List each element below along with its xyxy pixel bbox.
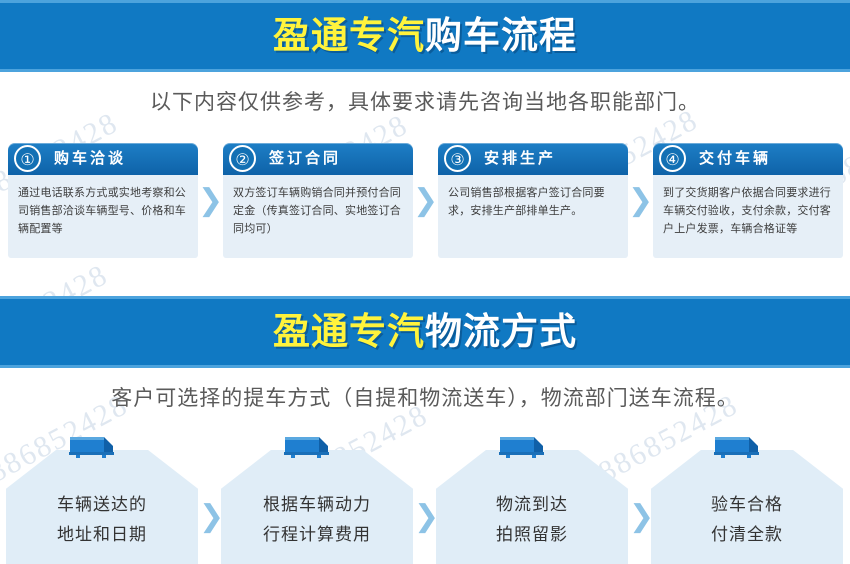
step-number-badge: ② <box>229 145 256 172</box>
purchase-step-header-3: ③ 安排生产 <box>438 143 628 175</box>
step-number-badge: ③ <box>444 145 471 172</box>
purchase-banner-title: 盈通专汽购车流程 <box>0 3 850 69</box>
purchase-step-title-4: 交付车辆 <box>699 143 839 175</box>
logistics-steps-row: 车辆送达的 地址和日期 ❯ 根据车辆动力 行程计算费用 ❯ <box>0 434 850 564</box>
chevron-right-icon: ❯ <box>198 186 218 216</box>
logistics-step-text-1: 车辆送达的 地址和日期 <box>6 490 198 550</box>
truck-icon <box>711 434 767 460</box>
logistics-step-line1: 车辆送达的 <box>6 490 198 520</box>
purchase-step-title-2: 签订合同 <box>269 143 409 175</box>
logistics-step-line2: 拍照留影 <box>436 520 628 550</box>
step-number-badge: ① <box>14 145 41 172</box>
purchase-step-header-2: ② 签订合同 <box>223 143 413 175</box>
purchase-step-body-4: 到了交货期客户依据合同要求进行车辆交付验收，支付余款，交付客户上户发票，车辆合格… <box>653 175 843 258</box>
purchase-step-title-1: 购车洽谈 <box>54 143 194 175</box>
purchase-step-card-1[interactable]: ① 购车洽谈 通过电话联系方式或实地考察和公司销售部洽谈车辆型号、价格和车辆配置… <box>8 143 198 258</box>
logistics-step-line1: 根据车辆动力 <box>221 490 413 520</box>
logistics-step-line2: 行程计算费用 <box>221 520 413 550</box>
purchase-banner-brand: 盈通专汽 <box>273 15 425 56</box>
truck-icon <box>496 434 552 460</box>
logistics-step-text-2: 根据车辆动力 行程计算费用 <box>221 490 413 550</box>
purchase-step-title-3: 安排生产 <box>484 143 624 175</box>
logistics-step-card-4[interactable]: 验车合格 付清全款 <box>651 434 843 564</box>
logistics-banner-label: 物流方式 <box>425 311 577 352</box>
logistics-subtitle: 客户可选择的提车方式（自提和物流送车），物流部门送车流程。 <box>0 382 850 412</box>
purchase-subtitle: 以下内容仅供参考，具体要求请先咨询当地各职能部门。 <box>0 86 850 116</box>
purchase-step-card-2[interactable]: ② 签订合同 双方签订车辆购销合同并预付合同定金（传真签订合同、实地签订合同均可… <box>223 143 413 258</box>
logistics-banner: 盈通专汽物流方式 <box>0 296 850 368</box>
purchase-step-body-1: 通过电话联系方式或实地考察和公司销售部洽谈车辆型号、价格和车辆配置等 <box>8 175 198 258</box>
logistics-step-card-3[interactable]: 物流到达 拍照留影 <box>436 434 628 564</box>
logistics-banner-title: 盈通专汽物流方式 <box>0 299 850 365</box>
chevron-right-icon: ❯ <box>199 502 219 532</box>
purchase-step-body-3: 公司销售部根据客户签订合同要求，安排生产部排单生产。 <box>438 175 628 258</box>
chevron-right-icon: ❯ <box>414 502 434 532</box>
purchase-step-card-3[interactable]: ③ 安排生产 公司销售部根据客户签订合同要求，安排生产部排单生产。 <box>438 143 628 258</box>
logistics-banner-brand: 盈通专汽 <box>273 311 425 352</box>
purchase-banner: 盈通专汽购车流程 <box>0 0 850 72</box>
purchase-step-header-4: ④ 交付车辆 <box>653 143 843 175</box>
step-number-badge: ④ <box>659 145 686 172</box>
logistics-step-text-3: 物流到达 拍照留影 <box>436 490 628 550</box>
logistics-step-line1: 物流到达 <box>436 490 628 520</box>
purchase-steps-row: ① 购车洽谈 通过电话联系方式或实地考察和公司销售部洽谈车辆型号、价格和车辆配置… <box>0 143 850 258</box>
logistics-step-line1: 验车合格 <box>651 490 843 520</box>
truck-icon <box>281 434 337 460</box>
purchase-step-card-4[interactable]: ④ 交付车辆 到了交货期客户依据合同要求进行车辆交付验收，支付余款，交付客户上户… <box>653 143 843 258</box>
chevron-right-icon: ❯ <box>413 186 433 216</box>
purchase-banner-label: 购车流程 <box>425 15 577 56</box>
logistics-step-line2: 地址和日期 <box>6 520 198 550</box>
purchase-step-header-1: ① 购车洽谈 <box>8 143 198 175</box>
logistics-step-card-1[interactable]: 车辆送达的 地址和日期 <box>6 434 198 564</box>
chevron-right-icon: ❯ <box>628 186 648 216</box>
truck-icon <box>66 434 122 460</box>
logistics-step-text-4: 验车合格 付清全款 <box>651 490 843 550</box>
logistics-step-card-2[interactable]: 根据车辆动力 行程计算费用 <box>221 434 413 564</box>
logistics-step-line2: 付清全款 <box>651 520 843 550</box>
purchase-step-body-2: 双方签订车辆购销合同并预付合同定金（传真签订合同、实地签订合同均可） <box>223 175 413 258</box>
chevron-right-icon: ❯ <box>629 502 649 532</box>
